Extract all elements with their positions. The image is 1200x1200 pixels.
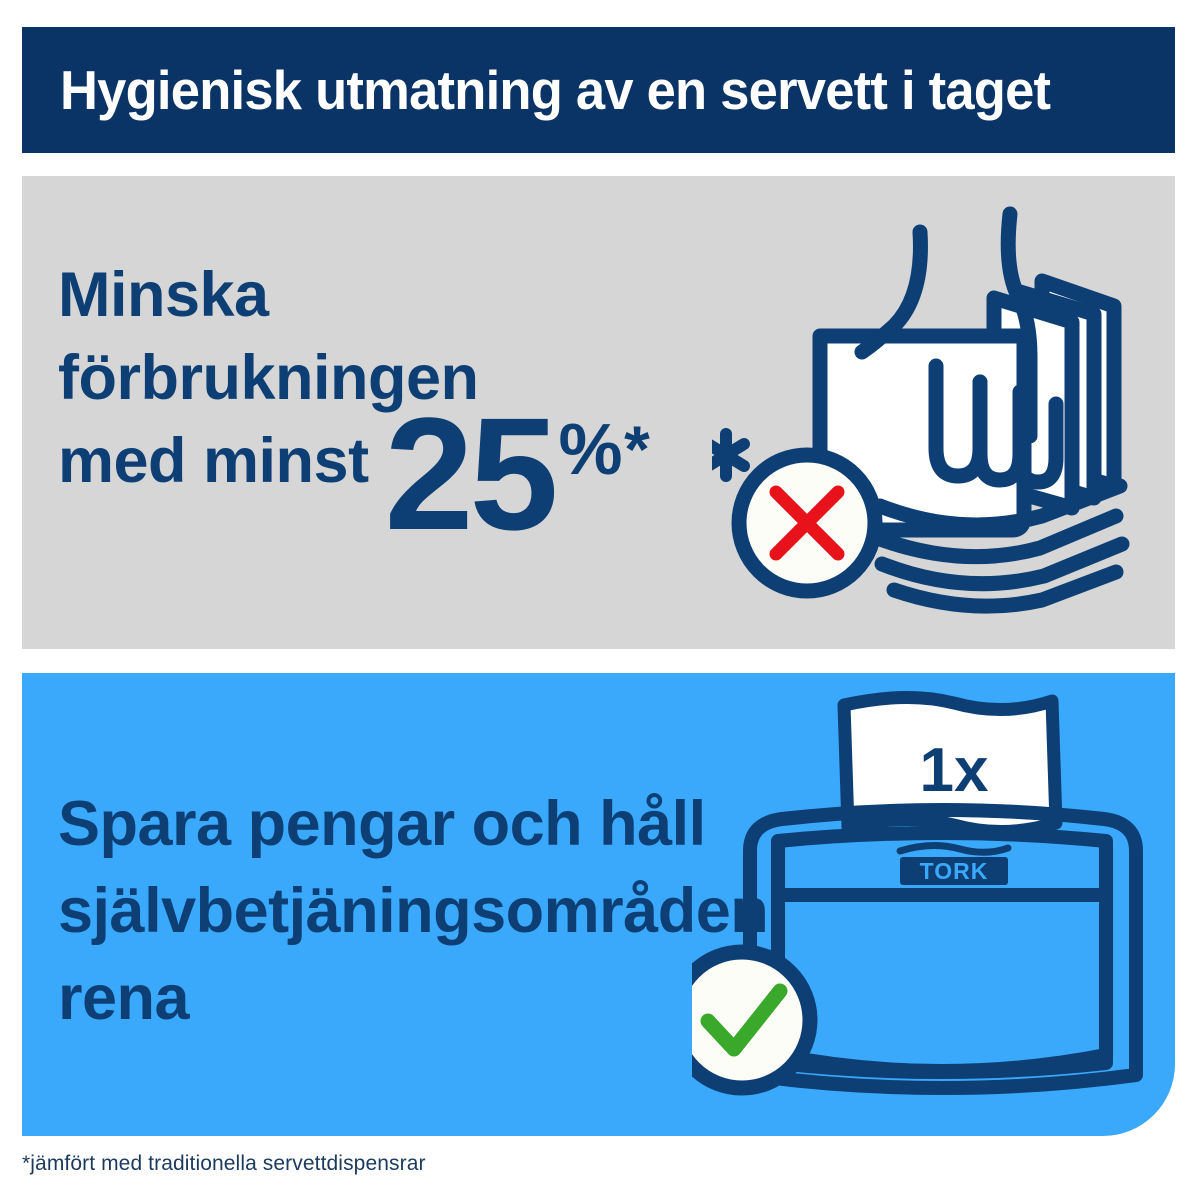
- stat-group: 25 % *: [385, 410, 650, 538]
- check-badge-icon: [692, 952, 810, 1088]
- panel-reduce-consumption: Minska förbrukningen med minst 25 % *: [22, 176, 1175, 649]
- tork-logo-text: TORK: [920, 858, 989, 884]
- panel2-line-3: rena: [58, 955, 798, 1042]
- infographic-canvas: Hygienisk utmatning av en servett i tage…: [0, 0, 1200, 1200]
- panel1-message: Minska förbrukningen med minst 25 % *: [58, 254, 758, 548]
- panel2-message: Spara pengar och håll självbetjäningsomr…: [58, 781, 798, 1042]
- stat-number: 25: [385, 410, 555, 538]
- panel-save-money-keep-clean: Spara pengar och håll självbetjäningsomr…: [22, 673, 1175, 1136]
- tork-logo-icon: TORK: [900, 845, 1008, 885]
- panel1-line-3-row: med minst 25 % *: [58, 420, 758, 548]
- panel2-line-1: Spara pengar och håll: [58, 781, 798, 868]
- stat-footnote-marker: *: [624, 416, 649, 482]
- footnote-text: *jämfört med traditionella servettdispen…: [22, 1152, 426, 1176]
- napkin-count-label: 1x: [920, 736, 989, 805]
- header-banner: Hygienisk utmatning av en servett i tage…: [22, 27, 1175, 153]
- stat-percent-sign: %: [559, 414, 623, 486]
- panel1-line-1: Minska: [58, 254, 758, 337]
- page-title: Hygienisk utmatning av en servett i tage…: [60, 63, 1050, 118]
- hand-grabbing-napkin-stack-illustration: [712, 186, 1175, 636]
- asterisk-mark-icon: [712, 434, 744, 476]
- tork-dispenser-illustration: 1x TORK: [692, 683, 1175, 1133]
- panel1-line-3: med minst: [58, 420, 369, 503]
- cross-badge-icon: [739, 455, 875, 591]
- panel2-line-2: självbetjäningsområden: [58, 868, 798, 955]
